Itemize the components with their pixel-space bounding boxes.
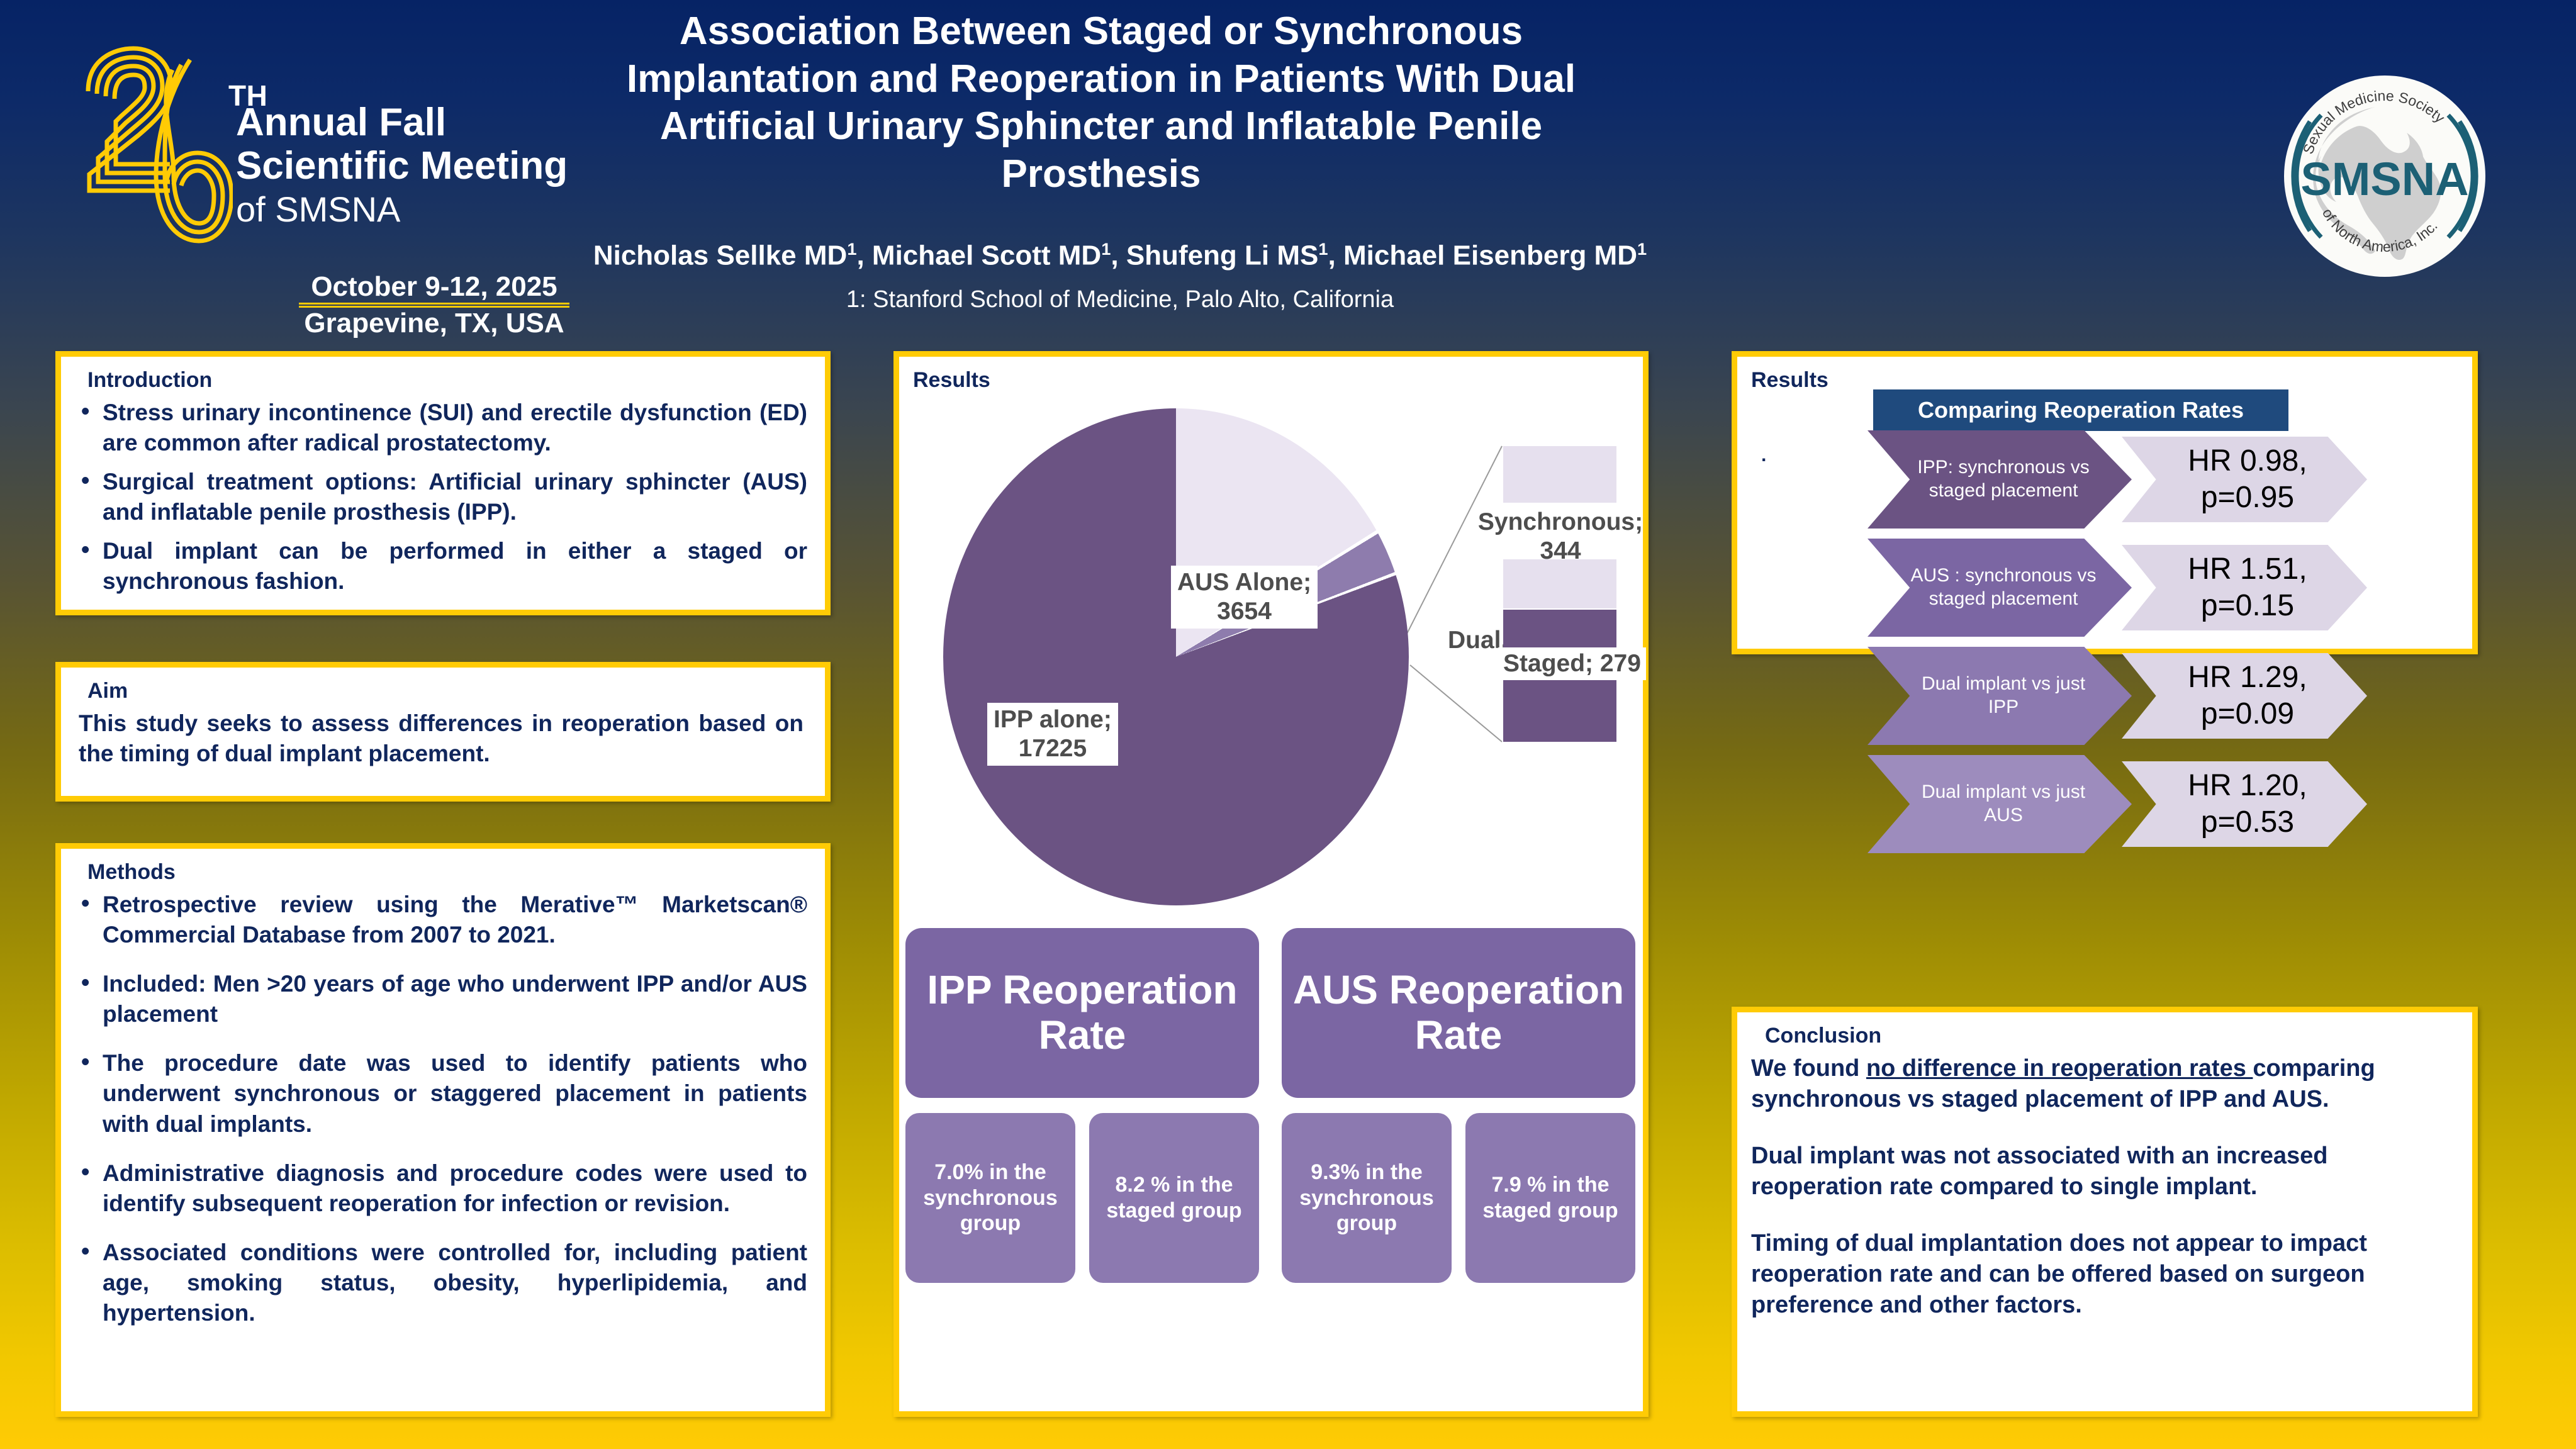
introduction-heading: Introduction [87,368,807,393]
dual-breakout-bar: Synchronous; 344 Staged; 279 [1503,446,1616,742]
results-right-panel: Results Comparing Reoperation Rates . [1732,351,2478,654]
ipp-reoperation-rate-title: IPP Reoperation Rate [905,928,1259,1098]
meeting-date: October 9-12, 2025 [299,272,569,301]
list-item: Dual implant can be performed in either … [74,536,807,596]
table-row: Dual implant vs just AUS HR 1.20, p=0.53 [1732,755,2468,853]
conclusion-paragraph-2: Dual implant was not associated with an … [1751,1141,2456,1203]
conclusion-p1-pre: We found [1751,1055,1866,1082]
results-center-panel: Results AUS Alone; 3654 IPP alone; 17225… [893,351,1649,1417]
bar-segment-synchronous [1503,446,1616,503]
poster-header: TH Annual Fall Scientific Meeting of SMS… [0,0,2576,343]
introduction-bullets: Stress urinary incontinence (SUI) and er… [74,398,807,597]
hr-row-label-2: Dual implant vs just IPP [1868,647,2132,745]
pie-label-ipp: IPP alone; 17225 [987,703,1118,766]
pie-graphic [943,408,1409,905]
logo-line-2: Scientific Meeting [236,144,563,187]
stray-period-mark: . [1761,445,1766,466]
logo-line-3: of SMSNA [236,188,563,230]
aus-synchronous-rate: 9.3% in the synchronous group [1282,1113,1452,1283]
list-item: The procedure date was used to identify … [74,1048,807,1139]
smsna-meeting-logo: TH Annual Fall Scientific Meeting of SMS… [76,35,554,299]
aim-panel: Aim This study seeks to assess differenc… [55,662,831,802]
ipp-staged-rate: 8.2 % in the staged group [1089,1113,1259,1283]
conclusion-panel: Conclusion We found no difference in reo… [1732,1007,2478,1417]
smsna-seal-logo: SMSNA Sexual Medicine Society of North A… [2281,72,2489,280]
bar-label-synchronous: Synchronous; 344 [1476,508,1645,566]
comparing-rates-banner: Comparing Reoperation Rates [1873,389,2288,431]
methods-panel: Methods Retrospective review using the M… [55,843,831,1417]
logo-line-1: Annual Fall [236,101,563,144]
conclusion-paragraph-3: Timing of dual implantation does not app… [1751,1228,2456,1321]
reoperation-rate-cards: IPP Reoperation Rate AUS Reoperation Rat… [899,923,1644,1389]
list-item: Stress urinary incontinence (SUI) and er… [74,398,807,458]
methods-bullets: Retrospective review using the Merative™… [74,890,807,1328]
smsna-acronym: SMSNA [2300,153,2468,205]
date-rule-1 [299,303,569,305]
hr-row-label-3: Dual implant vs just AUS [1868,755,2132,853]
author-list: Nicholas Sellke MD1, Michael Scott MD1, … [566,239,1674,272]
list-item: Included: Men >20 years of age who under… [74,969,807,1029]
page-title: Association Between Staged or Synchronou… [566,8,1636,198]
ipp-synchronous-rate: 7.0% in the synchronous group [905,1113,1075,1283]
pie-label-aus: AUS Alone; 3654 [1171,566,1318,629]
list-item: Associated conditions were controlled fo… [74,1238,807,1328]
list-item: Retrospective review using the Merative™… [74,890,807,950]
list-item: Surgical treatment options: Artificial u… [74,467,807,527]
hr-row-value-3: HR 1.20, p=0.53 [2122,761,2367,847]
aus-reoperation-rate-title: AUS Reoperation Rate [1282,928,1635,1098]
meeting-location: Grapevine, TX, USA [299,309,569,338]
conclusion-heading: Conclusion [1765,1024,2456,1048]
hr-row-value-2: HR 1.29, p=0.09 [2122,653,2367,739]
bar-label-staged: Staged; 279 [1498,647,1646,680]
aus-staged-rate: 7.9 % in the staged group [1465,1113,1635,1283]
table-row: Dual implant vs just IPP HR 1.29, p=0.09 [1732,647,2468,745]
affiliation-line: 1: Stanford School of Medicine, Palo Alt… [566,286,1674,313]
cohort-pie-chart: AUS Alone; 3654 IPP alone; 17225 Dual, 6… [899,388,1642,936]
aim-heading: Aim [87,679,807,703]
conclusion-paragraph-1: We found no difference in reoperation ra… [1751,1053,2456,1116]
logo-26-mark [76,41,233,249]
list-item: Administrative diagnosis and procedure c… [74,1158,807,1219]
introduction-panel: Introduction Stress urinary incontinence… [55,351,831,615]
aim-text: This study seeks to assess differences i… [74,708,807,769]
conclusion-p1-underlined: no difference in reoperation rates [1866,1055,2253,1082]
bar-segment-spacer [1503,559,1616,608]
methods-heading: Methods [87,860,807,885]
logo-date-block: October 9-12, 2025 Grapevine, TX, USA [299,272,569,338]
